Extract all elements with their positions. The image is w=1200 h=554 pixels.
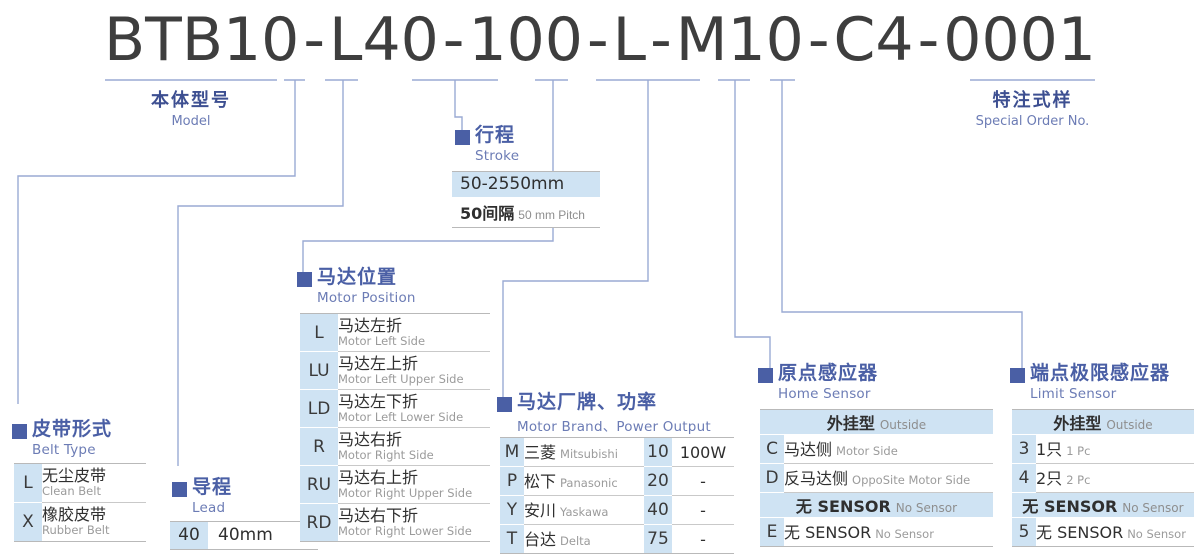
table-banner-row: 无 SENSORNo Sensor <box>760 493 993 518</box>
table-row: M 三菱Mitsubishi 10 100W <box>500 438 734 467</box>
home-sensor-cn-1: 反马达侧 <box>784 469 848 488</box>
motor-position-code-1: LU <box>300 352 338 390</box>
motor-brand-code-2: Y <box>500 496 524 525</box>
group-home-sensor-cn: 原点感应器 <box>778 364 878 383</box>
group-stroke-en: Stroke <box>475 148 519 164</box>
model-part-7: L <box>613 5 646 75</box>
belt-type-cn-1: 橡胶皮带 <box>42 506 146 524</box>
table-banner-row: 外挂型Outside <box>1012 410 1194 435</box>
model-part-3: 40 <box>362 5 438 75</box>
table-row: L 无尘皮带 Clean Belt <box>14 464 146 503</box>
motor-power-value-3: - <box>672 525 734 554</box>
group-motor-brand: 马达厂牌、功率 Motor Brand、Power Output <box>497 393 711 435</box>
limit-sensor-en-2: No Sensor <box>1127 527 1186 541</box>
motor-position-desc-3: 马达右折 Motor Right Side <box>338 428 490 466</box>
home-sensor-en-1: OppoSite Motor Side <box>852 473 970 487</box>
motor-position-cn-4: 马达右上折 <box>338 469 490 487</box>
home-sensor-en-2: No Sensor <box>875 527 934 541</box>
motor-position-cn-3: 马达右折 <box>338 431 490 449</box>
motor-brand-en-1: Panasonic <box>560 476 618 490</box>
motor-brand-desc-3: 台达Delta <box>524 525 644 554</box>
stroke-pitch: 50间隔50 mm Pitch <box>452 198 600 228</box>
limit-sensor-banner1-en: Outside <box>1106 418 1152 432</box>
belt-type-cn-0: 无尘皮带 <box>42 467 146 485</box>
home-sensor-en-0: Motor Side <box>836 444 898 458</box>
table-row: P 松下Panasonic 20 - <box>500 467 734 496</box>
model-part-5: 100 <box>468 5 583 75</box>
model-part-12: 4 <box>875 5 913 75</box>
group-limit-sensor-cn: 端点极限感应器 <box>1030 364 1170 383</box>
motor-brand-cn-0: 三菱 <box>524 443 556 462</box>
limit-sensor-desc-0: 1只1 Pc <box>1036 435 1194 464</box>
limit-sensor-desc-1: 2只2 Pc <box>1036 464 1194 493</box>
table-row: Y 安川Yaskawa 40 - <box>500 496 734 525</box>
table-row: D 反马达侧OppoSite Motor Side <box>760 464 993 493</box>
limit-sensor-en-0: 1 Pc <box>1066 444 1090 458</box>
limit-sensor-en-1: 2 Pc <box>1066 473 1090 487</box>
table-row: L 马达左折 Motor Left Side <box>300 314 490 352</box>
motor-position-en-4: Motor Right Upper Side <box>338 487 490 500</box>
group-motor-position-cn: 马达位置 <box>317 268 397 287</box>
group-motor-brand-en: Motor Brand、Power Output <box>517 415 711 435</box>
motor-power-code-0: 10 <box>644 438 672 467</box>
limit-sensor-banner-1: 外挂型Outside <box>1012 410 1194 435</box>
bullet-square-icon <box>297 272 312 287</box>
home-sensor-code-0: C <box>760 435 784 464</box>
home-sensor-banner2-cn: 无 SENSOR <box>796 497 891 516</box>
limit-sensor-banner-2: 无 SENSORNo Sensor <box>1012 493 1194 518</box>
bullet-square-icon <box>455 130 470 145</box>
motor-position-desc-4: 马达右上折 Motor Right Upper Side <box>338 466 490 504</box>
motor-brand-code-0: M <box>500 438 524 467</box>
limit-sensor-cn-0: 1只 <box>1036 440 1062 459</box>
motor-power-code-2: 40 <box>644 496 672 525</box>
home-sensor-desc-1: 反马达侧OppoSite Motor Side <box>784 464 993 493</box>
motor-brand-desc-2: 安川Yaskawa <box>524 496 644 525</box>
belt-type-en-0: Clean Belt <box>42 485 146 498</box>
model-part-6: - <box>583 5 613 75</box>
callout-model-en: Model <box>105 114 277 129</box>
motor-position-cn-0: 马达左折 <box>338 317 490 335</box>
home-sensor-banner-2: 无 SENSORNo Sensor <box>760 493 993 518</box>
motor-brand-cn-1: 松下 <box>524 472 556 491</box>
motor-power-value-0: 100W <box>672 438 734 467</box>
model-part-0: BTB10 <box>104 5 299 75</box>
group-motor-position-en: Motor Position <box>317 290 416 306</box>
motor-brand-code-1: P <box>500 467 524 496</box>
bullet-square-icon <box>1010 368 1025 383</box>
table-motor-position: L 马达左折 Motor Left Side LU 马达左上折 Motor Le… <box>300 313 490 542</box>
home-sensor-banner-1: 外挂型Outside <box>760 410 993 435</box>
callout-special-order-cn: 特注式样 <box>960 86 1105 112</box>
home-sensor-cn-0: 马达侧 <box>784 440 832 459</box>
motor-position-cn-2: 马达左下折 <box>338 393 490 411</box>
limit-sensor-code-1: 4 <box>1012 464 1036 493</box>
callout-special-order: 特注式样 Special Order No. <box>960 86 1105 129</box>
table-row: RD 马达右下折 Motor Right Lower Side <box>300 504 490 542</box>
belt-type-desc-1: 橡胶皮带 Rubber Belt <box>42 503 146 542</box>
diagram-canvas: BTB10 - L 40 - 100 - L - M10 - C 4 - 000… <box>0 0 1200 551</box>
model-number-line: BTB10 - L 40 - 100 - L - M10 - C 4 - 000… <box>0 4 1200 76</box>
motor-position-code-5: RD <box>300 504 338 542</box>
motor-position-en-3: Motor Right Side <box>338 449 490 462</box>
limit-sensor-cn-1: 2只 <box>1036 469 1062 488</box>
table-row: LU 马达左上折 Motor Left Upper Side <box>300 352 490 390</box>
stroke-pitch-en: 50 mm Pitch <box>518 208 585 222</box>
motor-position-code-4: RU <box>300 466 338 504</box>
home-sensor-banner2-en: No Sensor <box>896 501 957 515</box>
lead-code-0: 40 <box>170 522 208 549</box>
motor-position-cn-5: 马达右下折 <box>338 507 490 525</box>
model-part-8: - <box>646 5 676 75</box>
table-row: X 橡胶皮带 Rubber Belt <box>14 503 146 542</box>
group-lead-cn: 导程 <box>192 478 232 497</box>
motor-position-en-5: Motor Right Lower Side <box>338 525 490 538</box>
group-belt-type-en: Belt Type <box>32 442 112 458</box>
motor-position-desc-2: 马达左下折 Motor Left Lower Side <box>338 390 490 428</box>
motor-position-code-3: R <box>300 428 338 466</box>
limit-sensor-banner1-cn: 外挂型 <box>1053 414 1101 433</box>
group-limit-sensor-en: Limit Sensor <box>1030 386 1170 402</box>
model-part-4: - <box>439 5 469 75</box>
group-home-sensor: 原点感应器 Home Sensor <box>758 364 878 402</box>
motor-position-en-1: Motor Left Upper Side <box>338 373 490 386</box>
callout-model-cn: 本体型号 <box>105 86 277 112</box>
belt-type-desc-0: 无尘皮带 Clean Belt <box>42 464 146 503</box>
table-row: LD 马达左下折 Motor Left Lower Side <box>300 390 490 428</box>
table-limit-sensor: 外挂型Outside 3 1只1 Pc 4 2只2 Pc 无 SENSORNo … <box>1012 409 1194 547</box>
table-row: T 台达Delta 75 - <box>500 525 734 554</box>
table-belt-type: L 无尘皮带 Clean Belt X 橡胶皮带 Rubber Belt <box>14 463 146 542</box>
model-part-9: M10 <box>676 5 804 75</box>
limit-sensor-code-0: 3 <box>1012 435 1036 464</box>
motor-position-en-2: Motor Left Lower Side <box>338 411 490 424</box>
motor-position-desc-0: 马达左折 Motor Left Side <box>338 314 490 352</box>
motor-brand-cn-3: 台达 <box>524 530 556 549</box>
model-part-14: 0001 <box>943 5 1096 75</box>
model-part-1: - <box>299 5 329 75</box>
home-sensor-desc-2: 无 SENSORNo Sensor <box>784 518 993 547</box>
belt-type-code-0: L <box>14 464 42 503</box>
motor-position-code-0: L <box>300 314 338 352</box>
motor-brand-cn-2: 安川 <box>524 501 556 520</box>
group-home-sensor-en: Home Sensor <box>778 386 878 402</box>
motor-brand-en-3: Delta <box>560 534 591 548</box>
group-stroke: 行程 Stroke <box>455 126 519 164</box>
model-part-11: C <box>834 5 876 75</box>
table-banner-row: 无 SENSORNo Sensor <box>1012 493 1194 518</box>
motor-position-code-2: LD <box>300 390 338 428</box>
limit-sensor-cn-2: 无 SENSOR <box>1036 523 1123 542</box>
callout-model: 本体型号 Model <box>105 86 277 129</box>
motor-power-value-1: - <box>672 467 734 496</box>
table-lead: 40 40mm <box>170 521 318 550</box>
home-sensor-cn-2: 无 SENSOR <box>784 523 871 542</box>
table-row: 4 2只2 Pc <box>1012 464 1194 493</box>
motor-brand-en-2: Yaskawa <box>560 505 608 519</box>
bullet-square-icon <box>12 424 27 439</box>
table-row: 5 无 SENSORNo Sensor <box>1012 518 1194 547</box>
motor-power-code-1: 20 <box>644 467 672 496</box>
home-sensor-banner1-cn: 外挂型 <box>827 414 875 433</box>
motor-brand-desc-0: 三菱Mitsubishi <box>524 438 644 467</box>
belt-type-code-1: X <box>14 503 42 542</box>
table-row: 3 1只1 Pc <box>1012 435 1194 464</box>
limit-sensor-desc-2: 无 SENSORNo Sensor <box>1036 518 1194 547</box>
callout-special-order-en: Special Order No. <box>960 114 1105 129</box>
group-lead-en: Lead <box>192 500 232 516</box>
table-row: C 马达侧Motor Side <box>760 435 993 464</box>
home-sensor-code-1: D <box>760 464 784 493</box>
table-stroke: 50-2550mm 50间隔50 mm Pitch <box>452 171 600 228</box>
bullet-square-icon <box>497 397 512 412</box>
limit-sensor-banner2-en: No Sensor <box>1122 501 1183 515</box>
model-part-2: L <box>329 5 362 75</box>
model-part-10: - <box>804 5 834 75</box>
table-banner-row: 外挂型Outside <box>760 410 993 435</box>
group-motor-brand-cn: 马达厂牌、功率 <box>517 393 657 412</box>
table-row: R 马达右折 Motor Right Side <box>300 428 490 466</box>
motor-power-code-3: 75 <box>644 525 672 554</box>
stroke-range: 50-2550mm <box>452 171 600 198</box>
belt-type-en-1: Rubber Belt <box>42 524 146 537</box>
limit-sensor-banner2-cn: 无 SENSOR <box>1022 497 1117 516</box>
bullet-square-icon <box>172 482 187 497</box>
limit-sensor-code-2: 5 <box>1012 518 1036 547</box>
motor-position-desc-5: 马达右下折 Motor Right Lower Side <box>338 504 490 542</box>
model-part-13: - <box>914 5 944 75</box>
table-motor-brand: M 三菱Mitsubishi 10 100W P 松下Panasonic 20 … <box>500 437 734 554</box>
home-sensor-desc-0: 马达侧Motor Side <box>784 435 993 464</box>
motor-brand-en-0: Mitsubishi <box>560 447 618 461</box>
group-stroke-cn: 行程 <box>475 126 515 145</box>
table-home-sensor: 外挂型Outside C 马达侧Motor Side D 反马达侧OppoSit… <box>760 409 993 547</box>
motor-brand-code-3: T <box>500 525 524 554</box>
motor-position-desc-1: 马达左上折 Motor Left Upper Side <box>338 352 490 390</box>
table-row: RU 马达右上折 Motor Right Upper Side <box>300 466 490 504</box>
motor-position-en-0: Motor Left Side <box>338 335 490 348</box>
group-belt-type: 皮带形式 Belt Type <box>12 420 112 458</box>
motor-brand-desc-1: 松下Panasonic <box>524 467 644 496</box>
motor-position-cn-1: 马达左上折 <box>338 355 490 373</box>
group-limit-sensor: 端点极限感应器 Limit Sensor <box>1010 364 1170 402</box>
bullet-square-icon <box>758 368 773 383</box>
group-belt-type-cn: 皮带形式 <box>32 420 112 439</box>
group-motor-position: 马达位置 Motor Position <box>297 268 416 306</box>
group-lead: 导程 Lead <box>172 478 232 516</box>
home-sensor-banner1-en: Outside <box>880 418 926 432</box>
stroke-pitch-cn: 50间隔 <box>460 204 514 223</box>
home-sensor-code-2: E <box>760 518 784 547</box>
table-row: E 无 SENSORNo Sensor <box>760 518 993 547</box>
motor-power-value-2: - <box>672 496 734 525</box>
